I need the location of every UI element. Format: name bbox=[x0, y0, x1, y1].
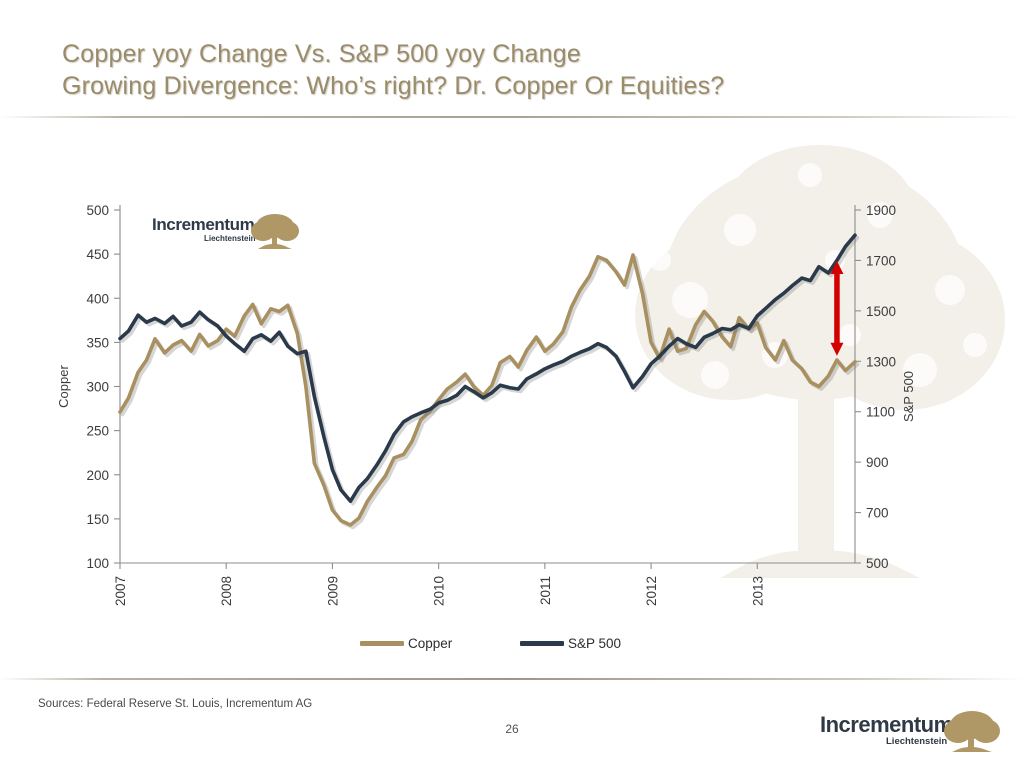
svg-text:500: 500 bbox=[866, 556, 889, 571]
legend-label-sp500: S&P 500 bbox=[568, 636, 621, 651]
svg-text:250: 250 bbox=[86, 424, 109, 439]
chart-legend: Copper S&P 500 bbox=[360, 636, 680, 658]
svg-text:S&P 500: S&P 500 bbox=[901, 371, 916, 422]
svg-text:2009: 2009 bbox=[325, 576, 340, 606]
slide: Copper yoy Change Vs. S&P 500 yoy Change… bbox=[0, 0, 1024, 768]
svg-text:900: 900 bbox=[866, 455, 889, 470]
svg-text:700: 700 bbox=[866, 506, 889, 521]
svg-text:Liechtenstein: Liechtenstein bbox=[886, 736, 947, 747]
series-line-s-p-500 bbox=[120, 235, 855, 501]
legend-swatch-sp500 bbox=[520, 641, 564, 646]
svg-text:2007: 2007 bbox=[113, 576, 128, 606]
sources-text: Sources: Federal Reserve St. Louis, Incr… bbox=[38, 698, 312, 710]
svg-text:2008: 2008 bbox=[219, 576, 234, 606]
header-divider bbox=[0, 116, 1024, 118]
legend-item-sp500[interactable]: S&P 500 bbox=[520, 636, 621, 651]
svg-text:2012: 2012 bbox=[644, 576, 659, 606]
svg-text:350: 350 bbox=[86, 335, 109, 350]
svg-text:Copper: Copper bbox=[56, 365, 71, 408]
series-line-copper bbox=[120, 255, 855, 525]
svg-text:2013: 2013 bbox=[750, 576, 765, 606]
svg-text:2010: 2010 bbox=[432, 576, 447, 606]
svg-text:100: 100 bbox=[86, 556, 109, 571]
svg-text:2011: 2011 bbox=[538, 576, 553, 605]
svg-text:1700: 1700 bbox=[866, 253, 896, 268]
svg-text:450: 450 bbox=[86, 247, 109, 262]
legend-swatch-copper bbox=[360, 641, 404, 646]
svg-text:150: 150 bbox=[86, 512, 109, 527]
svg-text:Liechtenstein: Liechtenstein bbox=[204, 234, 256, 243]
svg-text:1300: 1300 bbox=[866, 354, 896, 369]
title-line-1: Copper yoy Change Vs. S&P 500 yoy Change bbox=[62, 38, 962, 70]
incrementum-logo-footer: Incrementum Liechtenstein bbox=[820, 706, 1002, 754]
legend-item-copper[interactable]: Copper bbox=[360, 636, 452, 651]
legend-label-copper: Copper bbox=[408, 636, 452, 651]
svg-text:200: 200 bbox=[86, 468, 109, 483]
title-line-2: Growing Divergence: Who’s right? Dr. Cop… bbox=[62, 70, 962, 102]
page-title: Copper yoy Change Vs. S&P 500 yoy Change… bbox=[62, 38, 962, 102]
svg-text:300: 300 bbox=[86, 380, 109, 395]
svg-text:1100: 1100 bbox=[866, 405, 895, 420]
svg-text:Incrementum: Incrementum bbox=[152, 215, 255, 234]
footer-divider bbox=[0, 678, 1024, 680]
svg-text:1500: 1500 bbox=[866, 304, 896, 319]
svg-text:500: 500 bbox=[86, 203, 109, 218]
svg-text:1900: 1900 bbox=[866, 203, 896, 218]
svg-text:Incrementum: Incrementum bbox=[820, 712, 953, 737]
incrementum-logo-chart: Incrementum Liechtenstein bbox=[152, 210, 300, 254]
svg-text:400: 400 bbox=[86, 291, 109, 306]
